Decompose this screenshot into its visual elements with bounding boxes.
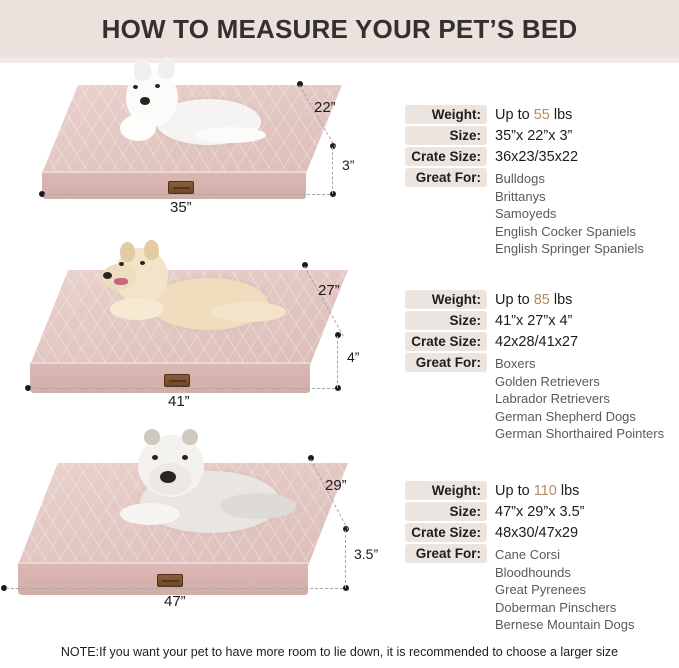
dim-endpoint bbox=[335, 385, 341, 391]
bed-illustration-medium: 27” 4” 41” bbox=[30, 270, 348, 410]
spec-value-crate-size: 36x23/35x22 bbox=[487, 147, 578, 165]
weight-number: 85 bbox=[534, 292, 550, 308]
spec-label-weight: Weight: bbox=[405, 105, 487, 124]
spec-value-size: 47”x 29”x 3.5” bbox=[487, 502, 584, 520]
pet-bed-size-guide: HOW TO MEASURE YOUR PET’S BED bbox=[0, 0, 679, 668]
weight-number: 55 bbox=[534, 107, 550, 123]
header-band: HOW TO MEASURE YOUR PET’S BED bbox=[0, 0, 679, 58]
spec-row-great-for: Great For: Boxers Golden Retrievers Labr… bbox=[405, 353, 679, 443]
dog-golden-retriever bbox=[92, 248, 282, 353]
spec-label-crate-size: Crate Size: bbox=[405, 147, 487, 166]
spec-value-size: 41”x 27”x 4” bbox=[487, 311, 572, 329]
list-item: Samoyeds bbox=[495, 205, 644, 223]
spec-panel-small: Weight: Up to 55 lbs Size: 35”x 22”x 3” … bbox=[405, 105, 679, 260]
bed-edge-highlight bbox=[30, 362, 310, 364]
spec-label-size: Size: bbox=[405, 126, 487, 145]
bed-brand-tag bbox=[157, 574, 183, 587]
spec-row-great-for: Great For: Bulldogs Brittanys Samoyeds E… bbox=[405, 168, 679, 258]
bed-brand-tag bbox=[164, 374, 190, 387]
spec-label-crate-size: Crate Size: bbox=[405, 523, 487, 542]
spec-value-size: 35”x 22”x 3” bbox=[487, 126, 572, 144]
list-item: English Cocker Spaniels bbox=[495, 223, 644, 241]
bed-size-section-small: 22” 3” 35” Weight: Up to 55 lbs Size: 35… bbox=[0, 63, 679, 248]
spec-row-weight: Weight: Up to 85 lbs bbox=[405, 290, 679, 309]
dim-label-depth: 22” bbox=[314, 99, 336, 116]
spec-panel-large: Weight: Up to 110 lbs Size: 47”x 29”x 3.… bbox=[405, 481, 679, 636]
list-item: Bernese Mountain Dogs bbox=[495, 616, 634, 634]
dim-label-height: 3” bbox=[342, 157, 354, 173]
dog-central-asian-shepherd bbox=[90, 431, 290, 556]
dim-endpoint bbox=[330, 191, 336, 197]
spec-row-great-for: Great For: Cane Corsi Bloodhounds Great … bbox=[405, 544, 679, 634]
dim-line-height bbox=[337, 336, 338, 388]
bed-illustration-small: 22” 3” 35” bbox=[42, 85, 342, 215]
weight-prefix: Up to bbox=[495, 483, 534, 499]
weight-number: 110 bbox=[534, 483, 557, 499]
spec-row-crate-size: Crate Size: 42x28/41x27 bbox=[405, 332, 679, 351]
list-item: Boxers bbox=[495, 355, 664, 373]
dim-label-height: 4” bbox=[347, 349, 359, 365]
breed-list: Boxers Golden Retrievers Labrador Retrie… bbox=[487, 353, 664, 443]
dim-line-height bbox=[332, 147, 333, 194]
spec-row-size: Size: 47”x 29”x 3.5” bbox=[405, 502, 679, 521]
spec-row-crate-size: Crate Size: 36x23/35x22 bbox=[405, 147, 679, 166]
bed-edge-highlight bbox=[18, 562, 308, 564]
spec-label-weight: Weight: bbox=[405, 481, 487, 500]
dim-line-width bbox=[44, 194, 330, 195]
spec-label-great-for: Great For: bbox=[405, 544, 487, 563]
weight-prefix: Up to bbox=[495, 292, 534, 308]
bed-size-section-medium: 27” 4” 41” Weight: Up to 85 lbs Size: 41… bbox=[0, 248, 679, 433]
breed-list: Bulldogs Brittanys Samoyeds English Cock… bbox=[487, 168, 644, 258]
list-item: Labrador Retrievers bbox=[495, 390, 664, 408]
spec-value-weight: Up to 110 lbs bbox=[487, 481, 579, 499]
spec-value-weight: Up to 85 lbs bbox=[487, 290, 572, 308]
bed-edge-highlight bbox=[42, 171, 306, 173]
spec-row-weight: Weight: Up to 110 lbs bbox=[405, 481, 679, 500]
breed-list: Cane Corsi Bloodhounds Great Pyrenees Do… bbox=[487, 544, 634, 634]
spec-label-weight: Weight: bbox=[405, 290, 487, 309]
bed-brand-tag bbox=[168, 181, 194, 194]
dim-label-width: 35” bbox=[170, 199, 192, 216]
spec-value-crate-size: 48x30/47x29 bbox=[487, 523, 578, 541]
spec-label-great-for: Great For: bbox=[405, 353, 487, 372]
bed-illustration-large: 29” 3.5” 47” bbox=[18, 463, 348, 613]
dim-label-height: 3.5” bbox=[354, 546, 378, 562]
spec-row-crate-size: Crate Size: 48x30/47x29 bbox=[405, 523, 679, 542]
list-item: Cane Corsi bbox=[495, 546, 634, 564]
weight-prefix: Up to bbox=[495, 107, 534, 123]
page-title: HOW TO MEASURE YOUR PET’S BED bbox=[102, 14, 578, 45]
list-item: Brittanys bbox=[495, 188, 644, 206]
dim-label-width: 41” bbox=[168, 393, 190, 410]
spec-label-great-for: Great For: bbox=[405, 168, 487, 187]
dim-endpoint bbox=[343, 585, 349, 591]
footer-note: NOTE:If you want your pet to have more r… bbox=[0, 645, 679, 659]
list-item: Doberman Pinschers bbox=[495, 599, 634, 617]
spec-panel-medium: Weight: Up to 85 lbs Size: 41”x 27”x 4” … bbox=[405, 290, 679, 445]
spec-value-crate-size: 42x28/41x27 bbox=[487, 332, 578, 350]
spec-row-weight: Weight: Up to 55 lbs bbox=[405, 105, 679, 124]
spec-label-crate-size: Crate Size: bbox=[405, 332, 487, 351]
dim-label-width: 47” bbox=[164, 593, 186, 610]
spec-label-size: Size: bbox=[405, 502, 487, 521]
weight-suffix: lbs bbox=[557, 483, 580, 499]
dim-line-height bbox=[345, 530, 346, 588]
weight-suffix: lbs bbox=[550, 292, 573, 308]
spec-row-size: Size: 41”x 27”x 4” bbox=[405, 311, 679, 330]
list-item: Bloodhounds bbox=[495, 564, 634, 582]
spec-row-size: Size: 35”x 22”x 3” bbox=[405, 126, 679, 145]
spec-label-size: Size: bbox=[405, 311, 487, 330]
dog-white-samoyed bbox=[100, 67, 265, 162]
weight-suffix: lbs bbox=[550, 107, 573, 123]
bed-size-section-large: 29” 3.5” 47” Weight: Up to 110 lbs Size:… bbox=[0, 433, 679, 633]
list-item: Great Pyrenees bbox=[495, 581, 634, 599]
spec-value-weight: Up to 55 lbs bbox=[487, 105, 572, 123]
list-item: Golden Retrievers bbox=[495, 373, 664, 391]
list-item: Bulldogs bbox=[495, 170, 644, 188]
list-item: German Shepherd Dogs bbox=[495, 408, 664, 426]
dim-line-width bbox=[30, 388, 335, 389]
dim-label-depth: 27” bbox=[318, 282, 340, 299]
dim-line-width bbox=[6, 588, 343, 589]
dim-label-depth: 29” bbox=[325, 477, 347, 494]
